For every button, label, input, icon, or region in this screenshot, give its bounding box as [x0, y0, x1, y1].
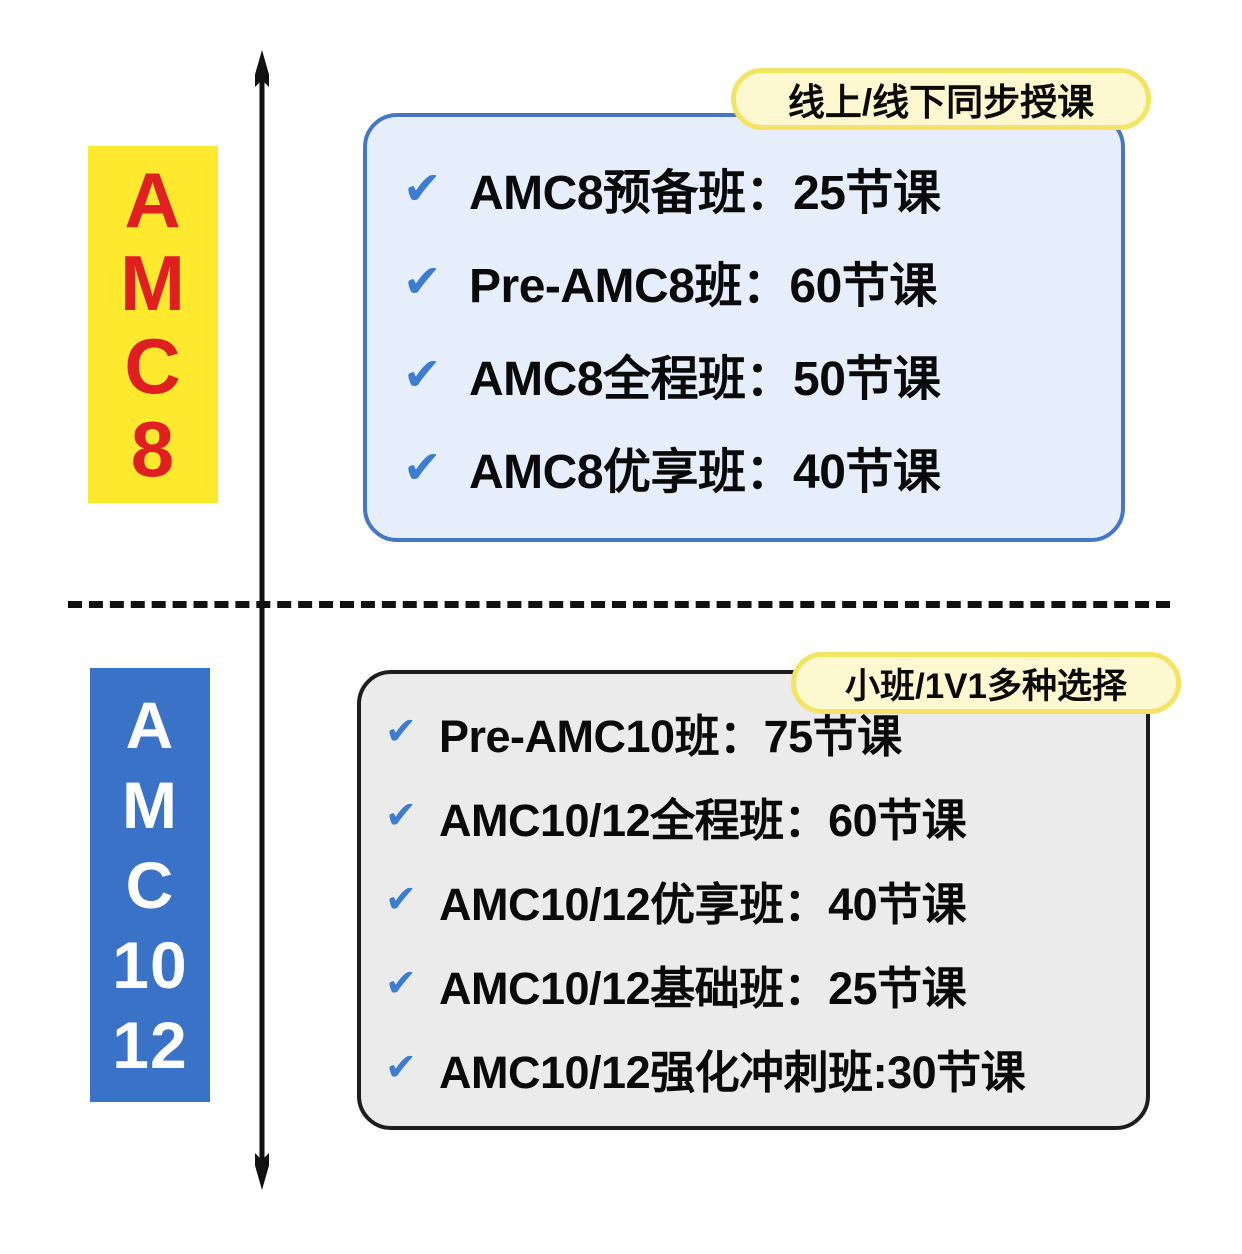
- list-item-label: AMC8优享班：40节课: [469, 432, 940, 502]
- check-icon: ✔: [385, 881, 425, 919]
- tag-small-class-1v1: 小班/1V1多种选择: [791, 652, 1181, 714]
- badge-amc8-glyph-1: M: [120, 242, 186, 325]
- check-icon: ✔: [385, 965, 425, 1003]
- badge-amc10-12-glyph-1: M: [122, 765, 178, 845]
- list-item-label: AMC10/12全程班：60节课: [439, 784, 966, 849]
- amc10-12-course-card: ✔ Pre-AMC10班：75节课 ✔ AMC10/12全程班：60节课 ✔ A…: [357, 670, 1150, 1130]
- badge-amc8-glyph-0: A: [124, 159, 181, 242]
- list-item-label: AMC10/12强化冲刺班:30节课: [439, 1036, 1025, 1101]
- badge-amc10-12-glyph-0: A: [126, 685, 175, 765]
- check-icon: ✔: [403, 258, 451, 304]
- check-icon: ✔: [385, 1049, 425, 1087]
- section-divider: [68, 601, 1170, 608]
- list-item[interactable]: ✔ AMC10/12基础班：25节课: [385, 942, 1146, 1026]
- badge-amc10-12-glyph-4: 12: [112, 1005, 187, 1085]
- list-item-label: AMC8预备班：25节课: [469, 153, 940, 223]
- tag-online-offline-sync: 线上/线下同步授课: [731, 68, 1151, 130]
- amc8-course-card: ✔ AMC8预备班：25节课 ✔ Pre-AMC8班：60节课 ✔ AMC8全程…: [363, 113, 1125, 542]
- badge-amc8: A M C 8: [88, 146, 218, 503]
- list-item[interactable]: ✔ AMC10/12优享班：40节课: [385, 858, 1146, 942]
- badge-amc8-glyph-2: C: [124, 325, 181, 408]
- badge-amc10-12-glyph-2: C: [126, 845, 175, 925]
- list-item-label: AMC8全程班：50节课: [469, 339, 940, 409]
- list-item[interactable]: ✔ AMC8全程班：50节课: [403, 328, 1121, 421]
- vertical-double-arrow-axis: [255, 50, 269, 1190]
- list-item[interactable]: ✔ Pre-AMC8班：60节课: [403, 235, 1121, 328]
- badge-amc8-glyph-3: 8: [131, 408, 175, 491]
- list-item[interactable]: ✔ AMC8优享班：40节课: [403, 421, 1121, 514]
- list-item[interactable]: ✔ AMC10/12强化冲刺班:30节课: [385, 1026, 1146, 1110]
- check-icon: ✔: [403, 444, 451, 490]
- list-item[interactable]: ✔ AMC8预备班：25节课: [403, 142, 1121, 235]
- badge-amc10-12: A M C 10 12: [90, 668, 210, 1102]
- list-item[interactable]: ✔ AMC10/12全程班：60节课: [385, 774, 1146, 858]
- list-item-label: AMC10/12基础班：25节课: [439, 952, 966, 1017]
- list-item-label: AMC10/12优享班：40节课: [439, 868, 966, 933]
- course-levels-infographic: A M C 8 线上/线下同步授课 ✔ AMC8预备班：25节课 ✔ Pre-A…: [0, 0, 1242, 1254]
- check-icon: ✔: [385, 797, 425, 835]
- badge-amc10-12-glyph-3: 10: [112, 925, 187, 1005]
- check-icon: ✔: [385, 713, 425, 751]
- list-item-label: Pre-AMC8班：60节课: [469, 246, 937, 316]
- check-icon: ✔: [403, 165, 451, 211]
- check-icon: ✔: [403, 351, 451, 397]
